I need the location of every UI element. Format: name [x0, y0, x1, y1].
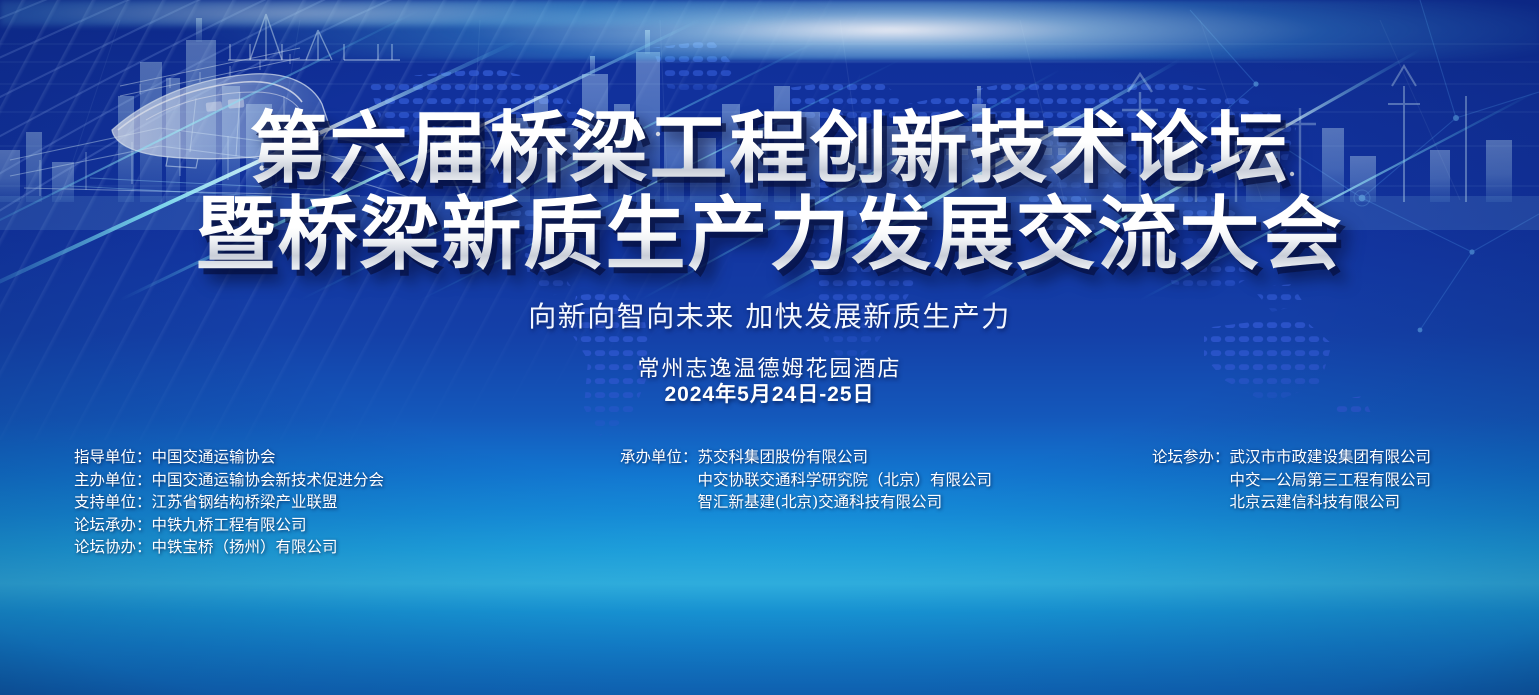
- organizer-middle-label: 承办单位：: [620, 446, 698, 469]
- organizer-right-row: 论坛参办：中交一公局第三工程有限公司: [1152, 469, 1431, 492]
- organizer-left-label: 论坛协办：: [74, 536, 152, 559]
- conference-banner: 第六届桥梁工程创新技术论坛 暨桥梁新质生产力发展交流大会 向新向智向未来 加快发…: [0, 0, 1539, 695]
- title-line-2: 暨桥梁新质生产力发展交流大会: [0, 192, 1539, 278]
- slogan-text: 向新向智向未来 加快发展新质生产力: [0, 295, 1539, 335]
- organizer-left-row: 指导单位：中国交通运输协会: [74, 446, 384, 469]
- organizer-left-value: 江苏省钢结构桥梁产业联盟: [152, 491, 338, 514]
- organizer-left-row: 论坛协办：中铁宝桥（扬州）有限公司: [74, 536, 384, 559]
- organizer-left-value: 中国交通运输协会: [152, 446, 276, 469]
- organizer-left-label: 主办单位：: [74, 469, 152, 492]
- banner-content: 第六届桥梁工程创新技术论坛 暨桥梁新质生产力发展交流大会 向新向智向未来 加快发…: [0, 0, 1539, 695]
- main-title: 第六届桥梁工程创新技术论坛 暨桥梁新质生产力发展交流大会: [0, 106, 1539, 278]
- organizer-left-label: 支持单位：: [74, 491, 152, 514]
- organizer-middle-row: 承办单位：中交协联交通科学研究院（北京）有限公司: [620, 469, 992, 492]
- organizer-right-value: 北京云建信科技有限公司: [1230, 491, 1401, 514]
- organizer-right-label: 论坛参办：: [1152, 446, 1230, 469]
- organizer-left-value: 中国交通运输协会新技术促进分会: [152, 469, 385, 492]
- organizers-column-right: 论坛参办：武汉市市政建设集团有限公司论坛参办：中交一公局第三工程有限公司论坛参办…: [1152, 446, 1431, 514]
- organizers-column-middle: 承办单位：苏交科集团股份有限公司承办单位：中交协联交通科学研究院（北京）有限公司…: [620, 446, 992, 514]
- dates-text: 2024年5月24日-25日: [0, 378, 1539, 408]
- title-line-1: 第六届桥梁工程创新技术论坛: [0, 106, 1539, 192]
- organizer-middle-row: 承办单位：苏交科集团股份有限公司: [620, 446, 992, 469]
- organizer-left-label: 指导单位：: [74, 446, 152, 469]
- organizer-middle-value: 智汇新基建(北京)交通科技有限公司: [698, 491, 943, 514]
- organizer-right-value: 中交一公局第三工程有限公司: [1230, 469, 1432, 492]
- organizer-left-label: 论坛承办：: [74, 514, 152, 537]
- organizer-left-value: 中铁宝桥（扬州）有限公司: [152, 536, 338, 559]
- organizer-right-value: 武汉市市政建设集团有限公司: [1230, 446, 1432, 469]
- organizer-middle-value: 中交协联交通科学研究院（北京）有限公司: [698, 469, 993, 492]
- organizers-column-left: 指导单位：中国交通运输协会主办单位：中国交通运输协会新技术促进分会支持单位：江苏…: [74, 446, 384, 559]
- organizer-right-row: 论坛参办：北京云建信科技有限公司: [1152, 491, 1431, 514]
- organizer-middle-value: 苏交科集团股份有限公司: [698, 446, 869, 469]
- organizer-middle-row: 承办单位：智汇新基建(北京)交通科技有限公司: [620, 491, 992, 514]
- organizer-right-row: 论坛参办：武汉市市政建设集团有限公司: [1152, 446, 1431, 469]
- organizer-left-row: 主办单位：中国交通运输协会新技术促进分会: [74, 469, 384, 492]
- organizer-left-value: 中铁九桥工程有限公司: [152, 514, 307, 537]
- organizer-left-row: 支持单位：江苏省钢结构桥梁产业联盟: [74, 491, 384, 514]
- organizer-left-row: 论坛承办：中铁九桥工程有限公司: [74, 514, 384, 537]
